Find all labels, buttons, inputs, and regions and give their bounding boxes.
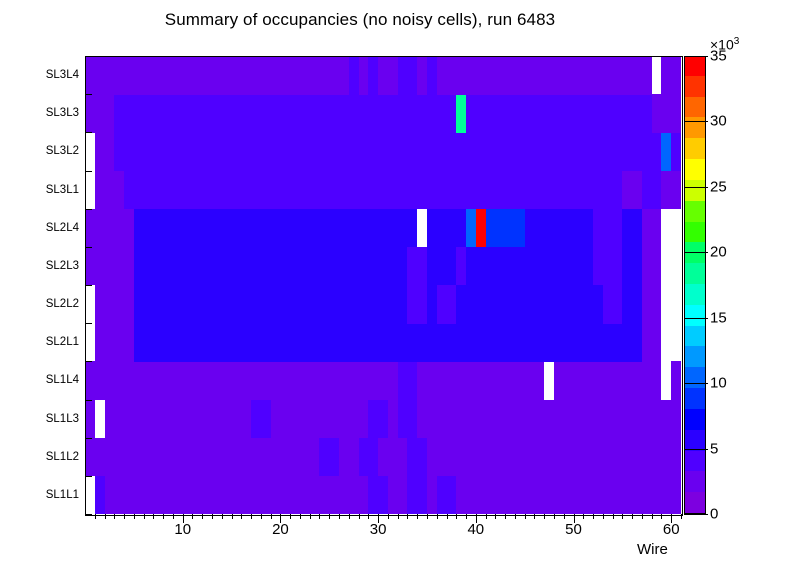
heatmap-cell	[105, 400, 115, 439]
y-axis-tick-label: SL2L1	[46, 336, 79, 348]
x-axis-minor-tick	[232, 514, 233, 519]
y-axis-tick	[85, 132, 92, 133]
heatmap-cell	[339, 438, 359, 477]
heatmap-cell	[368, 400, 388, 439]
heatmap-cell	[652, 132, 662, 171]
x-axis-minor-tick	[290, 514, 291, 519]
color-bar-band	[685, 492, 705, 513]
y-axis-tick-label: SL3L3	[46, 107, 79, 119]
heatmap-cell	[359, 438, 379, 477]
heatmap-cell	[114, 94, 456, 133]
heatmap-cell	[398, 56, 418, 95]
heatmap-cell	[642, 323, 662, 362]
color-bar-tick-label: 10	[710, 375, 727, 392]
heatmap-cell	[554, 361, 564, 400]
heatmap-cell	[437, 56, 652, 95]
x-axis-minor-tick	[515, 514, 516, 519]
heatmap-cell	[407, 476, 427, 514]
heatmap-cell	[427, 209, 466, 248]
heatmap-cell	[378, 438, 407, 477]
y-axis-tick-label: SL2L3	[46, 260, 79, 272]
x-axis-minor-tick	[144, 514, 145, 519]
y-axis-tick	[85, 285, 92, 286]
y-axis-tick	[85, 514, 92, 515]
x-axis-minor-tick	[603, 514, 604, 519]
heatmap-cell	[105, 132, 115, 171]
heatmap-cell	[95, 209, 105, 248]
x-axis-minor-tick	[339, 514, 340, 519]
heatmap-cell	[105, 94, 115, 133]
x-axis-minor-tick	[544, 514, 545, 519]
color-bar-band	[685, 408, 705, 429]
heatmap-cell	[95, 247, 105, 286]
heatmap-cell	[398, 400, 418, 439]
color-bar-band	[685, 450, 705, 471]
x-axis-minor-tick	[261, 514, 262, 519]
heatmap-cell	[105, 438, 320, 477]
x-axis-minor-tick	[310, 514, 311, 519]
heatmap-cell	[368, 476, 388, 514]
color-bar-tick-stub	[694, 187, 708, 188]
heatmap-cell	[388, 400, 398, 439]
color-bar-band	[685, 179, 705, 200]
x-axis-minor-tick	[593, 514, 594, 519]
x-axis-minor-tick	[329, 514, 330, 519]
color-bar-band	[685, 221, 705, 242]
heatmap-cell	[593, 209, 622, 248]
heatmap-cell	[622, 285, 642, 324]
heatmap-cell	[622, 171, 642, 210]
y-axis-tick-label: SL1L1	[46, 489, 79, 501]
heatmap-cell	[85, 438, 105, 477]
color-bar-tick-stub	[694, 121, 708, 122]
heatmap-cell	[105, 285, 134, 324]
x-axis-minor-tick	[486, 514, 487, 519]
heatmap-cell	[271, 400, 369, 439]
heatmap-cell	[525, 209, 593, 248]
heatmap-cell	[85, 56, 105, 95]
heatmap-cell	[114, 400, 251, 439]
x-axis-minor-tick	[212, 514, 213, 519]
heatmap-cell	[124, 476, 368, 514]
heatmap-cell	[105, 323, 134, 362]
color-bar-tick-label: 5	[710, 440, 718, 457]
color-bar-tick-stub	[694, 252, 708, 253]
x-axis-tick-label: 30	[370, 521, 387, 538]
x-axis-minor-tick	[124, 514, 125, 519]
heatmap-cell	[593, 247, 622, 286]
color-bar-tick-stub	[694, 514, 708, 515]
heatmap-cell	[114, 132, 651, 171]
x-axis-title: Wire	[637, 541, 668, 558]
x-axis-minor-tick	[271, 514, 272, 519]
x-axis-minor-tick	[388, 514, 389, 519]
heatmap-cell	[368, 56, 378, 95]
heatmap-cell	[642, 171, 662, 210]
heatmap-cell	[134, 285, 408, 324]
heatmap-cell	[85, 247, 95, 286]
color-bar-tick-label: 20	[710, 244, 727, 261]
heatmap-cell	[642, 285, 662, 324]
color-bar-tick-label: 30	[710, 113, 727, 130]
heatmap-cell	[466, 94, 652, 133]
heatmap-cell	[95, 285, 105, 324]
heatmap-cell	[95, 323, 105, 362]
heatmap-cell	[661, 56, 681, 95]
heatmap-cell	[105, 247, 134, 286]
y-axis-tick-label: SL2L4	[46, 222, 79, 234]
x-axis-minor-tick	[632, 514, 633, 519]
x-axis-minor-tick	[251, 514, 252, 519]
color-bar-band	[685, 75, 705, 96]
x-axis-minor-tick	[114, 514, 115, 519]
heatmap-cell	[593, 438, 661, 477]
x-axis-minor-tick	[359, 514, 360, 519]
heatmap-cell	[671, 132, 681, 171]
heatmap-cell	[661, 132, 671, 171]
color-bar-band	[685, 367, 705, 388]
heatmap-cell	[661, 171, 681, 210]
x-axis-minor-tick	[554, 514, 555, 519]
x-axis-minor-tick	[447, 514, 448, 519]
color-bar-tick-stub	[694, 383, 708, 384]
color-bar-tick-label: 25	[710, 178, 727, 195]
x-axis-minor-tick	[95, 514, 96, 519]
x-axis-tick-label: 60	[663, 521, 680, 538]
x-axis-minor-tick	[681, 514, 682, 519]
x-axis-tick-label: 10	[174, 521, 191, 538]
x-axis-minor-tick	[407, 514, 408, 519]
y-axis-tick-label: SL1L3	[46, 413, 79, 425]
y-axis-tick-label: SL2L2	[46, 298, 79, 310]
color-bar-band	[685, 263, 705, 284]
heatmap-cell	[85, 209, 95, 248]
x-axis-minor-tick	[534, 514, 535, 519]
color-bar-band	[685, 283, 705, 304]
heatmap-cell	[427, 247, 456, 286]
heatmap-cell	[417, 56, 427, 95]
heatmap-cell	[437, 285, 457, 324]
heatmap-cell	[388, 476, 408, 514]
chart-title: Summary of occupancies (no noisy cells),…	[0, 10, 720, 30]
x-axis-minor-tick	[300, 514, 301, 519]
x-axis-minor-tick	[192, 514, 193, 519]
y-axis-tick	[85, 209, 92, 210]
heatmap-cell	[407, 438, 427, 477]
heatmap-cell	[622, 476, 661, 514]
heatmap-cell	[95, 132, 105, 171]
heatmap-cell	[456, 247, 466, 286]
heatmap-cell	[427, 438, 574, 477]
y-axis-tick-label: SL3L2	[46, 145, 79, 157]
heatmap-cell	[642, 247, 662, 286]
heatmap-cell	[652, 94, 681, 133]
color-bar-band	[685, 429, 705, 450]
heatmap-cell	[105, 56, 349, 95]
heatmap-cell	[95, 476, 105, 514]
x-axis-minor-tick	[466, 514, 467, 519]
x-axis-tick-label: 20	[272, 521, 289, 538]
x-axis-minor-tick	[417, 514, 418, 519]
color-bar-band	[685, 117, 705, 138]
y-axis-tick	[85, 438, 92, 439]
color-bar-tick-stub	[694, 449, 708, 450]
y-axis-labels: SL3L4SL3L3SL3L2SL3L1SL2L4SL2L3SL2L2SL2L1…	[0, 0, 79, 572]
heatmap-cell	[95, 361, 115, 400]
heatmap-cell	[603, 285, 623, 324]
heatmap-cell	[671, 361, 681, 400]
y-axis-tick	[85, 94, 92, 95]
color-bar-tick-stub	[694, 318, 708, 319]
y-axis-tick	[85, 361, 92, 362]
heatmap-cell	[427, 476, 437, 514]
x-axis-minor-tick	[583, 514, 584, 519]
heatmap-cell	[661, 438, 681, 477]
x-axis-minor-tick	[613, 514, 614, 519]
color-bar-band	[685, 388, 705, 409]
x-axis-minor-tick	[622, 514, 623, 519]
color-bar-band	[685, 138, 705, 159]
color-bar-band	[685, 304, 705, 325]
x-axis-minor-tick	[222, 514, 223, 519]
x-axis-minor-tick	[495, 514, 496, 519]
y-axis-tick-label: SL3L1	[46, 184, 79, 196]
heatmap-cell	[661, 400, 681, 439]
x-axis-minor-tick	[134, 514, 135, 519]
color-bar-band	[685, 325, 705, 346]
heatmap-cell	[622, 209, 642, 248]
x-axis-minor-tick	[661, 514, 662, 519]
color-bar[interactable]	[684, 56, 706, 514]
x-axis-minor-tick	[319, 514, 320, 519]
x-axis-minor-tick	[349, 514, 350, 519]
x-axis-tick-label: 50	[565, 521, 582, 538]
y-axis-tick-label: SL3L4	[46, 69, 79, 81]
heatmap-cell	[427, 56, 437, 95]
color-bar-tick-stub	[694, 56, 708, 57]
heatmap-cell	[417, 400, 573, 439]
color-bar-band	[685, 56, 705, 76]
x-axis-minor-tick	[427, 514, 428, 519]
color-bar-band	[685, 471, 705, 492]
heatmap-cell	[456, 285, 603, 324]
y-axis-tick-label: SL1L2	[46, 451, 79, 463]
color-bar-band	[685, 346, 705, 367]
heatmap-cell	[661, 476, 681, 514]
heatmap-cell	[466, 247, 593, 286]
heatmap-cell	[105, 171, 125, 210]
x-axis-minor-tick	[642, 514, 643, 519]
heatmap-cell	[124, 171, 622, 210]
heatmap-cell	[105, 209, 134, 248]
heatmap-cell	[486, 209, 525, 248]
heatmap-cell	[574, 400, 594, 439]
heatmap-cell	[85, 361, 95, 400]
heatmap-cell	[134, 209, 417, 248]
heatmap-cell	[114, 361, 397, 400]
color-bar-exponent-base: ×10	[710, 37, 734, 53]
x-axis-minor-tick	[564, 514, 565, 519]
heatmap-cell	[398, 361, 418, 400]
heatmap-cell	[105, 476, 125, 514]
heatmap-cell	[134, 247, 408, 286]
heatmap-cell	[456, 476, 603, 514]
x-axis-minor-tick	[163, 514, 164, 519]
x-axis-minor-tick	[202, 514, 203, 519]
heatmap-cell	[407, 285, 427, 324]
y-axis-tick	[85, 323, 92, 324]
heatmap-cell	[593, 400, 661, 439]
y-axis-tick-label: SL1L4	[46, 374, 79, 386]
color-bar-exponent-power: 3	[734, 36, 740, 47]
x-axis-minor-tick	[153, 514, 154, 519]
color-bar-exponent: ×103	[710, 36, 739, 53]
x-axis-minor-tick	[398, 514, 399, 519]
x-axis-minor-tick	[505, 514, 506, 519]
color-bar-band	[685, 96, 705, 117]
heatmap-cell	[85, 94, 105, 133]
x-axis-minor-tick	[652, 514, 653, 519]
y-axis-tick	[85, 171, 92, 172]
x-axis-tick-label: 40	[467, 521, 484, 538]
color-bar-tick-label: 0	[710, 506, 718, 523]
y-axis-tick	[85, 247, 92, 248]
x-axis-minor-tick	[456, 514, 457, 519]
y-axis-tick	[85, 476, 92, 477]
heatmap-cell	[251, 400, 271, 439]
heatmap-cell	[407, 247, 427, 286]
heatmap-cell	[349, 56, 359, 95]
heatmap-cell	[85, 400, 95, 439]
x-axis-minor-tick	[368, 514, 369, 519]
color-bar-tick-label: 15	[710, 309, 727, 326]
heatmap-cell	[476, 209, 486, 248]
heatmap-cell	[642, 209, 662, 248]
heatmap-cell	[359, 56, 369, 95]
y-axis-tick	[85, 400, 92, 401]
x-axis-minor-tick	[437, 514, 438, 519]
heatmap-cell	[603, 476, 623, 514]
heatmap-cell	[437, 476, 457, 514]
x-axis-minor-tick	[241, 514, 242, 519]
heatmap-cell	[427, 285, 437, 324]
heatmap-cell	[95, 171, 105, 210]
x-axis-minor-tick	[105, 514, 106, 519]
heatmap-cell	[319, 438, 339, 477]
heatmap-cell	[134, 323, 623, 362]
heatmap-cell	[456, 94, 466, 133]
heatmap-cell	[622, 323, 642, 362]
heatmap-cell	[417, 361, 524, 400]
x-axis-minor-tick	[525, 514, 526, 519]
heatmap-cell	[378, 56, 398, 95]
heatmap-cell	[525, 361, 545, 400]
heatmap-cell	[564, 361, 662, 400]
chart-canvas: Summary of occupancies (no noisy cells),…	[0, 0, 796, 572]
heatmap-cell	[574, 438, 594, 477]
heatmap-cell	[622, 247, 642, 286]
heatmap-cell	[466, 209, 476, 248]
heatmap-plot-area[interactable]	[85, 56, 681, 514]
color-bar-band	[685, 200, 705, 221]
color-bar-band	[685, 159, 705, 180]
x-axis-minor-tick	[173, 514, 174, 519]
